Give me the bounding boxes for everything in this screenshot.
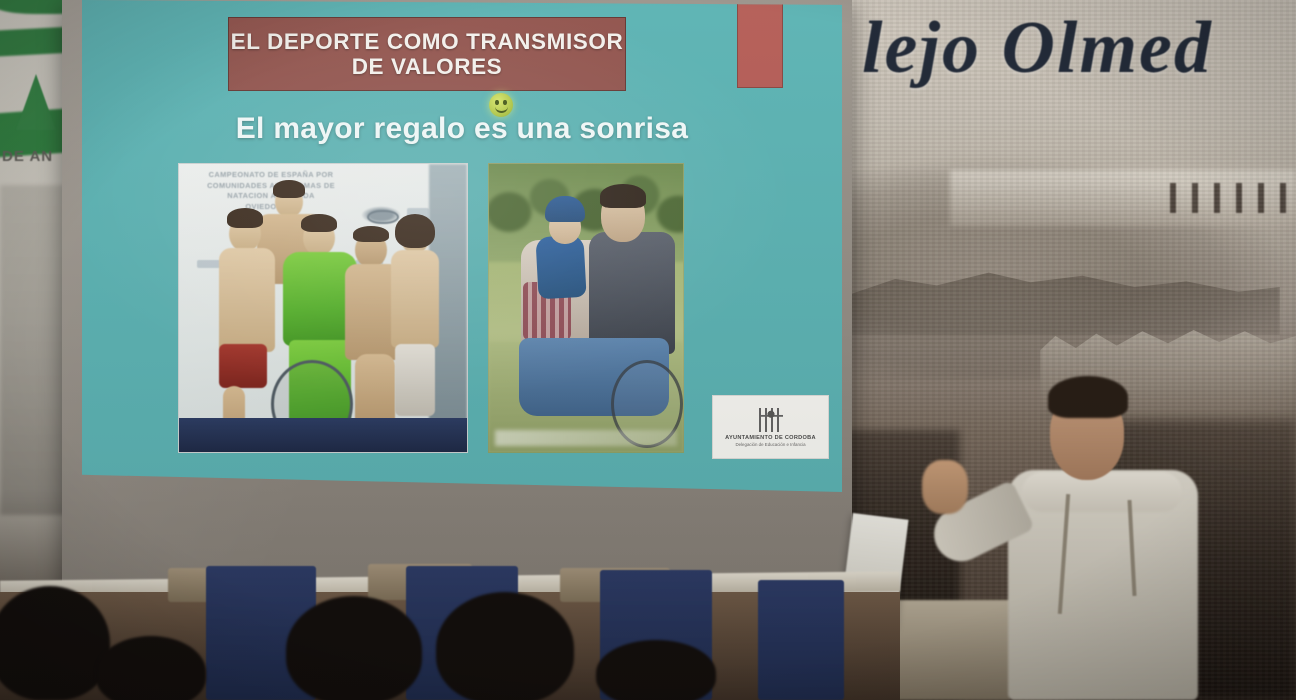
- logo-line-2: Delegación de Educación e Infancia: [735, 442, 805, 447]
- projection-screen: EL DEPORTE COMO TRANSMISOR DE VALORES El…: [62, 0, 852, 600]
- slide-title-bar: EL DEPORTE COMO TRANSMISOR DE VALORES: [228, 17, 626, 91]
- presenter-hair: [1048, 376, 1128, 418]
- photo-pool-floor: [179, 418, 467, 452]
- person1-blue-scarf: [535, 235, 586, 299]
- photo-caption-strip: [495, 430, 677, 446]
- auditorium-chair-4[interactable]: [758, 580, 844, 700]
- audience-head-3: [286, 596, 422, 700]
- swimmer-legs-right: [355, 354, 395, 426]
- swimmer-shorts-white: [395, 344, 435, 416]
- swimmers-team-photo: CAMPEONATO DE ESPAÑA PORCOMUNIDADES AUTO…: [178, 163, 468, 453]
- swimmer-hair-right: [353, 226, 389, 242]
- swimmer-torso-left: [219, 248, 275, 352]
- slide-title-line2: DE VALORES: [352, 54, 503, 79]
- presenter-with-raised-arm: [930, 372, 1296, 700]
- event-backdrop-text: CAMPEONATO DE ESPAÑA PORCOMUNIDADES AUTO…: [187, 170, 355, 213]
- presenter-hood: [1022, 472, 1182, 512]
- swimmer-hair-left: [227, 208, 263, 228]
- slide-subtitle: El mayor regalo es una sonrisa: [82, 112, 842, 146]
- person2-hair: [600, 184, 646, 208]
- projected-slide: EL DEPORTE COMO TRANSMISOR DE VALORES El…: [82, 0, 842, 492]
- sponsor-fish-logo-icon: [361, 206, 401, 224]
- presentation-room-scene: lejo Olmed DE AN EL DEPORTE COMO TRANSMI…: [0, 0, 1296, 700]
- couple-outdoors-photo: [488, 163, 684, 453]
- ayuntamiento-cordoba-logo: AYUNTAMIENTO DE CORDOBA Delegación de Ed…: [712, 395, 829, 459]
- swimmer-shorts-red: [219, 344, 267, 388]
- slide-title-line1: EL DEPORTE COMO TRANSMISOR: [231, 29, 624, 54]
- athlete-hair-center: [301, 214, 337, 232]
- swimmer-torso-far-right: [391, 250, 439, 348]
- cordoba-crest-icon: [759, 408, 783, 432]
- wall-title-text: lejo Olmed: [862, 6, 1213, 91]
- person1-blue-hat: [545, 196, 585, 222]
- audience-head-1: [0, 586, 110, 700]
- swimmer-hair-far-right: [395, 214, 435, 248]
- swimmer-hair-back: [273, 180, 305, 198]
- presenter-hand: [922, 460, 968, 514]
- logo-line-1: AYUNTAMIENTO DE CORDOBA: [725, 435, 816, 441]
- red-accent-tab: [737, 0, 783, 88]
- audience-head-5: [596, 640, 716, 700]
- banner-triangle-icon: [16, 74, 56, 130]
- audience-head-2: [96, 636, 206, 700]
- person2-dark-coat: [589, 232, 675, 354]
- slide-title: EL DEPORTE COMO TRANSMISOR DE VALORES: [231, 29, 624, 79]
- audience-head-4: [436, 592, 574, 700]
